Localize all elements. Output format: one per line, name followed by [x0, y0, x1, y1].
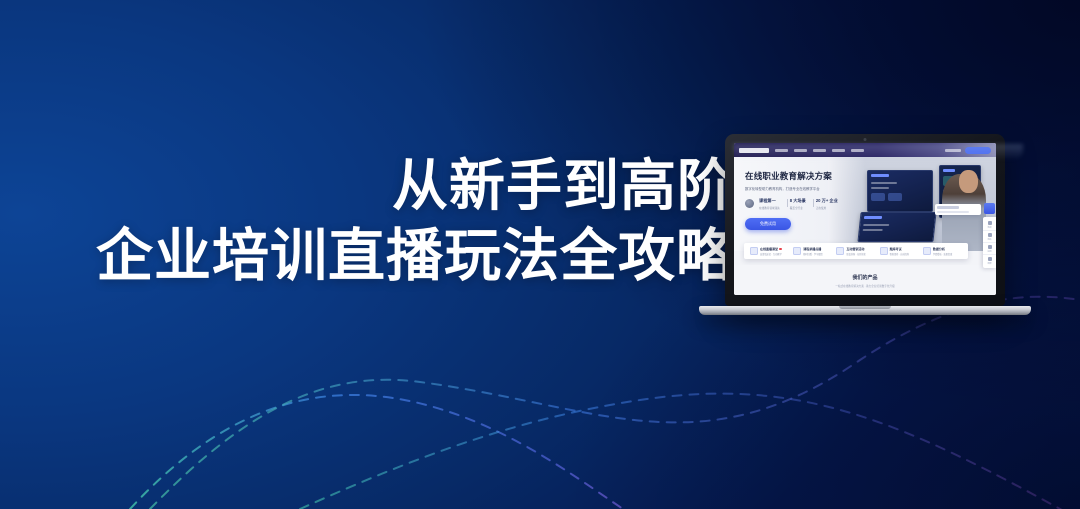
feature-item[interactable]: 互动营销活动 裂变获客 · 拉新转化	[834, 247, 877, 256]
feature-desc: 高清低延迟 · 互动教学	[760, 252, 782, 256]
feature-desc: 裂变获客 · 拉新转化	[846, 252, 865, 256]
arrow-up-icon	[988, 257, 992, 261]
stat-label: 覆盖全行业	[790, 206, 806, 210]
camera-icon	[864, 138, 867, 141]
sidebar-item-label: 试用	[987, 250, 991, 253]
hero-title: 在线职业教育解决方案	[745, 170, 866, 182]
hero-stats: 课程第一 在线教育领域领先 8 大场景 覆盖全行业 20 万+ 企业 正在使用	[745, 198, 866, 210]
screen-title-bar	[871, 174, 889, 177]
laptop-reflection	[733, 144, 1023, 160]
feature-icon	[750, 247, 758, 255]
feature-icon	[836, 247, 844, 255]
feature-item[interactable]: 课程录播点播 随时回看 · 学习跟踪	[791, 247, 834, 256]
feature-item[interactable]: 数据分析 学情看板 · 效果复盘	[921, 247, 964, 256]
monitor-main	[867, 170, 933, 211]
person-head	[959, 170, 977, 193]
screen-title-bar	[863, 216, 881, 219]
stat-label: 在线教育领域领先	[759, 206, 780, 210]
chat-line	[937, 211, 969, 213]
feature-name-text: 在线直播课堂	[760, 247, 778, 251]
products-subtitle: 一站式在线教育解决方案 · 助力企业培训数字化升级	[734, 284, 996, 288]
stat-item-3: 20 万+ 企业 正在使用	[816, 198, 843, 210]
stat-label: 正在使用	[816, 206, 838, 210]
hero-cta-button[interactable]: 免费试用	[745, 218, 791, 230]
laptop-base	[699, 306, 1031, 315]
feature-name: 互动营销活动	[846, 247, 865, 251]
stat-value: 8 大场景	[790, 198, 806, 204]
sidebar-item-label: 咨询	[987, 226, 991, 229]
feature-name: 数据分析	[933, 247, 952, 251]
feature-name: 在线直播课堂	[760, 247, 782, 251]
sidebar-item-phone[interactable]: 电话	[983, 231, 996, 243]
chat-icon	[988, 221, 992, 225]
feature-icon	[793, 247, 801, 255]
trial-icon	[988, 245, 992, 249]
screen-title-bar	[943, 169, 955, 172]
stat-value: 课程第一	[759, 198, 780, 204]
laptop-notch	[839, 306, 891, 309]
award-icon	[745, 199, 754, 208]
sidebar-item-trial[interactable]: 试用	[983, 243, 996, 255]
sidebar-item-top[interactable]: 顶部	[983, 255, 996, 266]
stat-item-1: 课程第一 在线教育领域领先	[759, 198, 785, 210]
headline-line-1: 从新手到高阶	[44, 158, 734, 214]
feature-desc: 学情看板 · 效果复盘	[933, 252, 952, 256]
chat-bubble	[935, 204, 981, 215]
products-section: 我们的产品 一站式在线教育解决方案 · 助力企业培训数字化升级	[734, 265, 996, 295]
hero-copy: 在线职业教育解决方案 数字化转型助力教育机构，打造专业在线教学平台 课程第一 在…	[745, 170, 866, 230]
products-title: 我们的产品	[734, 274, 996, 281]
sidebar-item-label: 电话	[987, 238, 991, 241]
feature-icon	[880, 247, 888, 255]
stat-item-2: 8 大场景 覆盖全行业	[790, 198, 811, 210]
feature-item[interactable]: 题库考试 智能组卷 · 自动阅卷	[878, 247, 921, 256]
avatar[interactable]	[984, 203, 995, 214]
feature-name: 题库考试	[890, 247, 909, 251]
floating-sidebar: 咨询 电话 试用 顶部	[983, 217, 996, 268]
feature-item[interactable]: 在线直播课堂 高清低延迟 · 互动教学	[748, 247, 791, 256]
sidebar-item-label: 顶部	[987, 262, 991, 265]
promo-banner: 从新手到高阶 企业培训直播玩法全攻略	[0, 0, 1080, 509]
feature-desc: 随时回看 · 学习跟踪	[803, 252, 822, 256]
page-title: 从新手到高阶 企业培训直播玩法全攻略	[44, 158, 734, 285]
tablet-device	[857, 212, 936, 242]
chat-line	[937, 206, 959, 209]
feature-desc: 智能组卷 · 自动阅卷	[890, 252, 909, 256]
screen-card	[888, 193, 902, 201]
laptop-mockup: 在线职业教育解决方案 数字化转型助力教育机构，打造专业在线教学平台 课程第一 在…	[725, 134, 1031, 315]
hot-badge-icon	[779, 248, 782, 250]
sidebar-item-consult[interactable]: 咨询	[983, 219, 996, 231]
screen-card	[871, 193, 885, 201]
phone-icon	[988, 233, 992, 237]
feature-icon	[923, 247, 931, 255]
stat-value: 20 万+ 企业	[816, 198, 838, 204]
screen-line	[863, 224, 889, 226]
screen-line	[871, 187, 889, 189]
feature-card-strip: 在线直播课堂 高清低延迟 · 互动教学 课程录播点播 随时回看 · 学习跟踪	[744, 243, 968, 259]
laptop-screen: 在线职业教育解决方案 数字化转型助力教育机构，打造专业在线教学平台 课程第一 在…	[734, 143, 996, 295]
screen-line	[871, 182, 897, 184]
headline-line-2: 企业培训直播玩法全攻略	[44, 228, 734, 285]
feature-name: 课程录播点播	[803, 247, 822, 251]
hero-subtitle: 数字化转型助力教育机构，打造专业在线教学平台	[745, 186, 866, 191]
